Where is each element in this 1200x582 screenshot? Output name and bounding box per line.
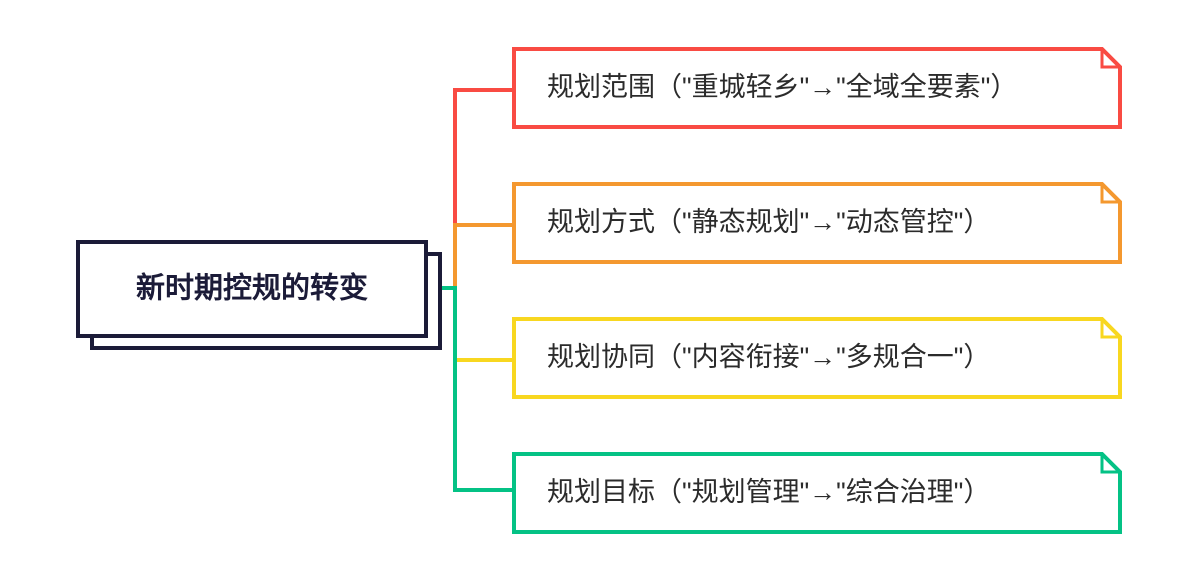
- connector-branch-2: [455, 225, 514, 288]
- mindmap-diagram: 规划范围（"重城轻乡"→"全域全要素"）规划方式（"静态规划"→"动态管控"）规…: [0, 0, 1200, 582]
- branch-nodes-group: 规划范围（"重城轻乡"→"全域全要素"）规划方式（"静态规划"→"动态管控"）规…: [514, 49, 1120, 532]
- branch-node-label: 规划范围（"重城轻乡"→"全域全要素"）: [547, 72, 1017, 102]
- branch-node[interactable]: 规划方式（"静态规划"→"动态管控"）: [514, 184, 1120, 262]
- connector-branch-4: [455, 288, 514, 490]
- branch-node[interactable]: 规划协同（"内容衔接"→"多规合一"）: [514, 319, 1120, 397]
- root-node-label: 新时期控规的转变: [136, 271, 368, 305]
- connector-branch-3: [455, 288, 514, 360]
- root-node[interactable]: 新时期控规的转变: [78, 242, 440, 348]
- branch-node-label: 规划协同（"内容衔接"→"多规合一"）: [547, 342, 990, 372]
- branch-node-label: 规划目标（"规划管理"→"综合治理"）: [547, 477, 990, 507]
- connector-branch-1: [455, 90, 514, 288]
- mindmap-canvas: 规划范围（"重城轻乡"→"全域全要素"）规划方式（"静态规划"→"动态管控"）规…: [0, 0, 1200, 582]
- branch-node[interactable]: 规划目标（"规划管理"→"综合治理"）: [514, 454, 1120, 532]
- branch-node-label: 规划方式（"静态规划"→"动态管控"）: [547, 207, 990, 237]
- branch-node[interactable]: 规划范围（"重城轻乡"→"全域全要素"）: [514, 49, 1120, 127]
